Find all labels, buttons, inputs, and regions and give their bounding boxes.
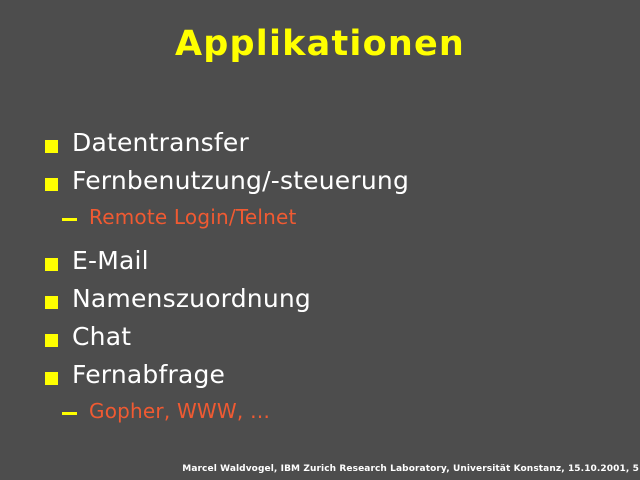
square-bullet-icon [45, 334, 58, 347]
square-bullet-icon [45, 372, 58, 385]
sub-list-item-label: Remote Login/Telnet [89, 202, 297, 232]
square-bullet-icon [45, 296, 58, 309]
dash-bullet-icon [62, 218, 77, 221]
square-bullet-icon [45, 140, 58, 153]
list-item: Fernabfrage [0, 358, 640, 396]
sub-list-item: Gopher, WWW, … [0, 396, 640, 438]
list-item-label: Namenszuordnung [72, 282, 311, 316]
square-bullet-icon [45, 258, 58, 271]
list-item: Datentransfer [0, 126, 640, 164]
sub-list-item-label: Gopher, WWW, … [89, 396, 270, 426]
list-item: E-Mail [0, 244, 640, 282]
page-title: Applikationen [0, 23, 640, 65]
list-item: Namenszuordnung [0, 282, 640, 320]
slide-footer: Marcel Waldvogel, IBM Zurich Research La… [0, 463, 640, 475]
bullet-list: Datentransfer Fernbenutzung/-steuerung R… [0, 126, 640, 438]
list-item: Fernbenutzung/-steuerung [0, 164, 640, 202]
square-bullet-icon [45, 178, 58, 191]
list-item-label: Chat [72, 320, 131, 354]
list-item-label: Fernabfrage [72, 358, 225, 392]
list-item: Chat [0, 320, 640, 358]
list-item-label: Datentransfer [72, 126, 249, 160]
dash-bullet-icon [62, 412, 77, 415]
slide-canvas: Applikationen Datentransfer Fernbenutzun… [0, 0, 640, 480]
list-item-label: E-Mail [72, 244, 149, 278]
sub-list-item: Remote Login/Telnet [0, 202, 640, 244]
list-item-label: Fernbenutzung/-steuerung [72, 164, 409, 198]
